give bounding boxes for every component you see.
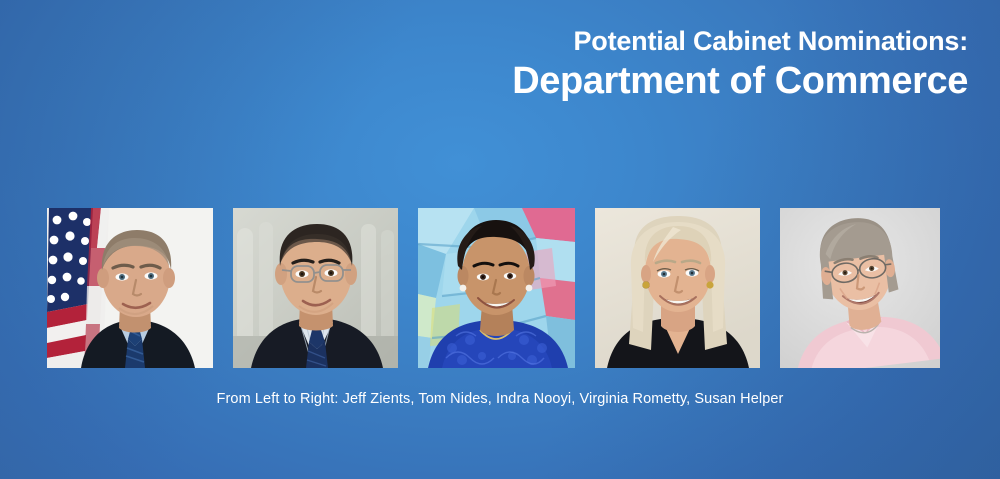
slide-title: Potential Cabinet Nominations: Departmen…: [0, 28, 968, 100]
photo-tom-nides: [233, 208, 398, 368]
photo-indra-nooyi: [418, 208, 575, 368]
presentation-slide: Potential Cabinet Nominations: Departmen…: [0, 0, 1000, 479]
photo-susan-helper: [780, 208, 940, 368]
headshot-tom-nides-image: [233, 208, 398, 368]
title-line-1: Potential Cabinet Nominations:: [0, 28, 968, 55]
title-line-2: Department of Commerce: [0, 62, 968, 100]
headshot-jeff-zients-image: [47, 208, 213, 368]
headshot-indra-nooyi-image: [418, 208, 575, 368]
photo-jeff-zients: [47, 208, 213, 368]
headshot-virginia-rometty-image: [595, 208, 760, 368]
headshot-gallery: [47, 208, 940, 368]
headshot-susan-helper-image: [780, 208, 940, 368]
photo-virginia-rometty: [595, 208, 760, 368]
photo-caption: From Left to Right: Jeff Zients, Tom Nid…: [0, 391, 1000, 407]
